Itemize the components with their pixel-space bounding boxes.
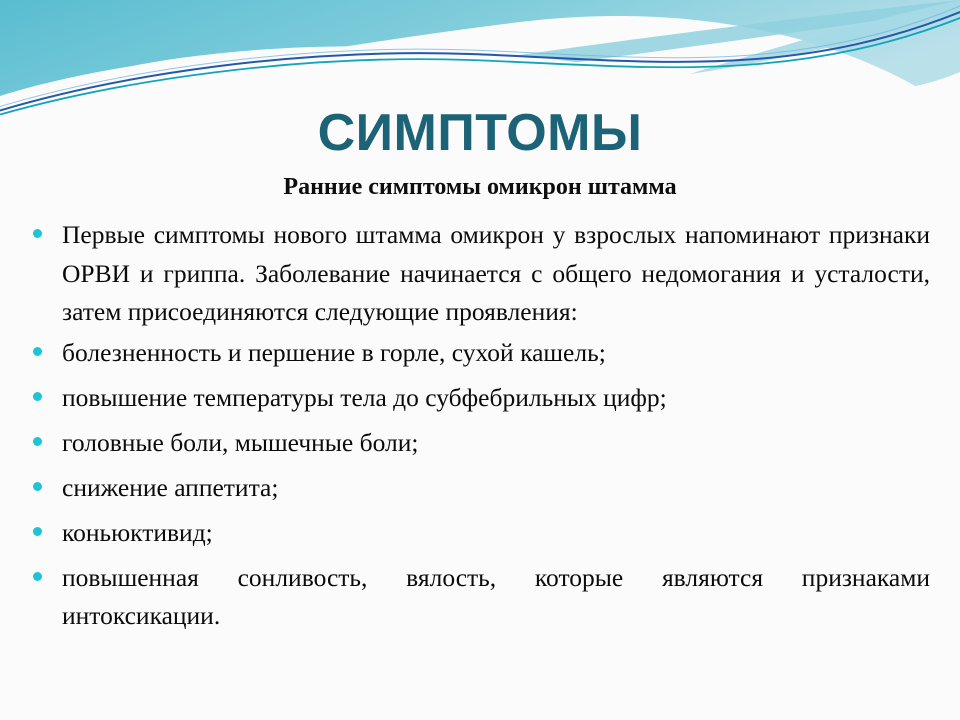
bullet-dot-icon — [33, 482, 42, 491]
list-item-text: коньюктивид; — [62, 514, 930, 552]
list-item-text: повышение температуры тела до субфебриль… — [62, 379, 930, 417]
list-item: болезненность и першение в горле, сухой … — [30, 334, 930, 372]
bullet-dot-icon — [33, 437, 42, 446]
symptom-bullet-list: Первые симптомы нового штамма омикрон у … — [30, 216, 930, 641]
list-item-text: головные боли, мышечные боли; — [62, 424, 930, 462]
list-item: коньюктивид; — [30, 514, 930, 552]
slide-subtitle: Ранние симптомы омикрон штамма — [0, 172, 960, 202]
bullet-dot-icon — [33, 527, 42, 536]
list-item: Первые симптомы нового штамма омикрон у … — [30, 216, 930, 332]
list-item: повышение температуры тела до субфебриль… — [30, 379, 930, 417]
bullet-dot-icon — [33, 347, 42, 356]
list-item: повышенная сонливость, вялость, которые … — [30, 559, 930, 635]
list-item-text: снижение аппетита; — [62, 469, 930, 507]
list-item-text: Первые симптомы нового штамма омикрон у … — [62, 216, 930, 332]
bullet-dot-icon — [33, 392, 42, 401]
list-item-text: повышенная сонливость, вялость, которые … — [62, 559, 930, 635]
bullet-dot-icon — [33, 229, 42, 238]
list-item-text: болезненность и першение в горле, сухой … — [62, 334, 930, 372]
wave-header-graphic — [0, 0, 960, 115]
presentation-slide: СИМПТОМЫ Ранние симптомы омикрон штамма … — [0, 0, 960, 720]
page-title: СИМПТОМЫ — [0, 104, 960, 162]
bullet-dot-icon — [33, 572, 42, 581]
list-item: снижение аппетита; — [30, 469, 930, 507]
list-item: головные боли, мышечные боли; — [30, 424, 930, 462]
